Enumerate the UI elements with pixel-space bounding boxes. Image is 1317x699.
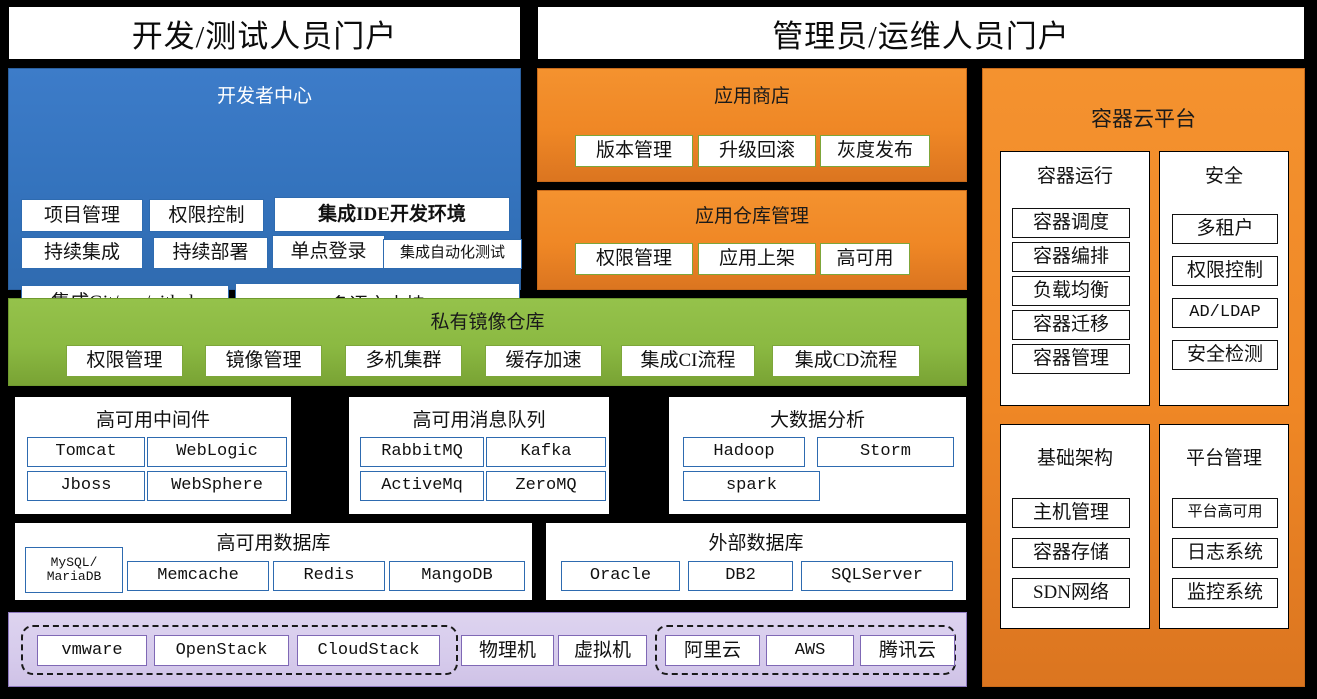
chip-label: spark bbox=[726, 477, 777, 495]
chip-oracle[interactable]: Oracle bbox=[561, 561, 680, 591]
chip-activemq[interactable]: ActiveMq bbox=[360, 471, 484, 501]
chip-label: 项目管理 bbox=[44, 206, 120, 226]
chip-registry-permission[interactable]: 权限管理 bbox=[66, 345, 183, 377]
chip-single-sign-on[interactable]: 单点登录 bbox=[272, 235, 385, 269]
chip-version-management[interactable]: 版本管理 bbox=[575, 135, 693, 167]
chip-mysql-mariadb[interactable]: MySQL/ MariaDB bbox=[25, 547, 123, 593]
chip-label: DB2 bbox=[725, 567, 756, 585]
middleware-group: 高可用中间件 Tomcat WebLogic Jboss WebSphere bbox=[14, 396, 292, 515]
chip-container-scheduling[interactable]: 容器调度 bbox=[1012, 208, 1130, 238]
chip-label: 镜像管理 bbox=[225, 351, 301, 371]
ha-database-group: 高可用数据库 MySQL/ MariaDB Memcache Redis Man… bbox=[14, 522, 533, 601]
chip-label: 持续集成 bbox=[44, 243, 120, 263]
chip-integrated-ide[interactable]: 集成IDE开发环境 bbox=[274, 197, 510, 232]
chip-cache-acceleration[interactable]: 缓存加速 bbox=[485, 345, 602, 377]
chip-label: 权限管理 bbox=[86, 351, 162, 371]
chip-virtual-machine[interactable]: 虚拟机 bbox=[558, 635, 647, 666]
chip-label: 灰度发布 bbox=[837, 141, 913, 161]
chip-label: WebSphere bbox=[171, 477, 263, 495]
chip-label: 阿里云 bbox=[684, 641, 741, 661]
chip-security-detection[interactable]: 安全检测 bbox=[1172, 340, 1278, 370]
chip-label: 集成CI流程 bbox=[640, 351, 735, 371]
chip-multi-node-cluster[interactable]: 多机集群 bbox=[345, 345, 462, 377]
chip-label: 集成CD流程 bbox=[795, 351, 897, 371]
chip-label: 监控系统 bbox=[1187, 583, 1263, 603]
app-repository-title: 应用仓库管理 bbox=[538, 201, 966, 228]
app-store-panel: 应用商店 版本管理 升级回滚 灰度发布 bbox=[537, 68, 967, 182]
private-registry-panel: 私有镜像仓库 权限管理 镜像管理 多机集群 缓存加速 集成CI流程 集成CD流程 bbox=[8, 298, 967, 386]
chip-high-availability[interactable]: 高可用 bbox=[820, 243, 910, 275]
middleware-title: 高可用中间件 bbox=[15, 405, 291, 432]
chip-physical-machine[interactable]: 物理机 bbox=[461, 635, 554, 666]
external-database-title: 外部数据库 bbox=[546, 528, 966, 555]
portal-header-dev-label: 开发/测试人员门户 bbox=[132, 11, 398, 56]
chip-log-system[interactable]: 日志系统 bbox=[1172, 538, 1278, 568]
platform-mgmt-title: 平台管理 bbox=[1160, 443, 1288, 470]
portal-header-admin-label: 管理员/运维人员门户 bbox=[772, 11, 1070, 56]
chip-ad-ldap[interactable]: AD/LDAP bbox=[1172, 298, 1278, 328]
chip-label: 多租户 bbox=[1196, 219, 1253, 239]
app-store-title: 应用商店 bbox=[538, 81, 966, 108]
chip-aws[interactable]: AWS bbox=[766, 635, 854, 666]
chip-label-line2: MariaDB bbox=[47, 570, 102, 584]
chip-rabbitmq[interactable]: RabbitMQ bbox=[360, 437, 484, 467]
chip-label: WebLogic bbox=[176, 443, 258, 461]
chip-label: AD/LDAP bbox=[1189, 304, 1260, 322]
chip-weblogic[interactable]: WebLogic bbox=[147, 437, 287, 467]
chip-label: Jboss bbox=[60, 477, 111, 495]
chip-mangodb[interactable]: MangoDB bbox=[389, 561, 525, 591]
chip-label: ActiveMq bbox=[381, 477, 463, 495]
chip-memcache[interactable]: Memcache bbox=[127, 561, 269, 591]
chip-tencent-cloud[interactable]: 腾讯云 bbox=[860, 635, 955, 666]
chip-jboss[interactable]: Jboss bbox=[27, 471, 145, 501]
chip-gray-release[interactable]: 灰度发布 bbox=[820, 135, 930, 167]
chip-label: 升级回滚 bbox=[719, 141, 795, 161]
chip-multi-tenant[interactable]: 多租户 bbox=[1172, 214, 1278, 244]
chip-continuous-integration[interactable]: 持续集成 bbox=[21, 237, 143, 269]
chip-vmware[interactable]: vmware bbox=[37, 635, 147, 666]
chip-app-publish[interactable]: 应用上架 bbox=[698, 243, 816, 275]
chip-label: 容器迁移 bbox=[1033, 315, 1109, 335]
chip-label: 高可用 bbox=[836, 249, 893, 269]
chip-host-management[interactable]: 主机管理 bbox=[1012, 498, 1130, 528]
chip-label: Redis bbox=[303, 567, 354, 585]
portal-header-admin: 管理员/运维人员门户 bbox=[537, 6, 1305, 60]
private-registry-title: 私有镜像仓库 bbox=[9, 307, 966, 334]
chip-label: 缓存加速 bbox=[505, 351, 581, 371]
chip-label: 单点登录 bbox=[290, 242, 366, 262]
chip-label: 权限管理 bbox=[596, 249, 672, 269]
chip-label: 容器管理 bbox=[1033, 349, 1109, 369]
infra-group: 基础架构 主机管理 容器存储 SDN网络 bbox=[1000, 424, 1150, 629]
bigdata-group: 大数据分析 Hadoop Storm spark bbox=[668, 396, 967, 515]
message-queue-title: 高可用消息队列 bbox=[349, 405, 609, 432]
chip-db2[interactable]: DB2 bbox=[688, 561, 793, 591]
bigdata-title: 大数据分析 bbox=[669, 405, 966, 432]
chip-storm[interactable]: Storm bbox=[817, 437, 954, 467]
container-runtime-title: 容器运行 bbox=[1001, 161, 1149, 188]
infrastructure-panel: vmware OpenStack CloudStack 物理机 虚拟机 阿里云 … bbox=[8, 612, 967, 687]
chip-label: AWS bbox=[795, 642, 826, 660]
external-database-group: 外部数据库 Oracle DB2 SQLServer bbox=[545, 522, 967, 601]
chip-label: CloudStack bbox=[317, 642, 419, 660]
chip-permission-control[interactable]: 权限控制 bbox=[149, 199, 264, 232]
chip-label: 安全检测 bbox=[1187, 345, 1263, 365]
app-repository-panel: 应用仓库管理 权限管理 应用上架 高可用 bbox=[537, 190, 967, 290]
chip-label: 权限控制 bbox=[168, 206, 244, 226]
chip-label: Kafka bbox=[520, 443, 571, 461]
chip-label: 容器存储 bbox=[1033, 543, 1109, 563]
security-title: 安全 bbox=[1160, 161, 1288, 188]
chip-label: SQLServer bbox=[831, 567, 923, 585]
chip-label: vmware bbox=[61, 642, 122, 660]
container-runtime-group: 容器运行 容器调度 容器编排 负载均衡 容器迁移 容器管理 bbox=[1000, 151, 1150, 406]
chip-websphere[interactable]: WebSphere bbox=[147, 471, 287, 501]
developer-center-panel: 开发者中心 项目管理 权限控制 集成IDE开发环境 持续集成 持续部署 单点登录… bbox=[8, 68, 521, 290]
chip-label: 平台高可用 bbox=[1187, 505, 1262, 521]
chip-label: 主机管理 bbox=[1033, 503, 1109, 523]
chip-label: Tomcat bbox=[55, 443, 116, 461]
developer-center-title: 开发者中心 bbox=[9, 81, 520, 108]
chip-container-management[interactable]: 容器管理 bbox=[1012, 344, 1130, 374]
chip-label: OpenStack bbox=[176, 642, 268, 660]
chip-kafka[interactable]: Kafka bbox=[486, 437, 606, 467]
chip-label: ZeroMQ bbox=[515, 477, 576, 495]
chip-monitoring-system[interactable]: 监控系统 bbox=[1172, 578, 1278, 608]
chip-automated-testing[interactable]: 集成自动化测试 bbox=[383, 239, 522, 269]
chip-zeromq[interactable]: ZeroMQ bbox=[486, 471, 606, 501]
chip-upgrade-rollback[interactable]: 升级回滚 bbox=[698, 135, 816, 167]
chip-label: MangoDB bbox=[421, 567, 492, 585]
chip-label: SDN网络 bbox=[1033, 583, 1109, 603]
chip-label: 腾讯云 bbox=[879, 641, 936, 661]
chip-label: 集成自动化测试 bbox=[400, 246, 505, 262]
chip-continuous-deployment[interactable]: 持续部署 bbox=[153, 237, 268, 269]
platform-mgmt-group: 平台管理 平台高可用 日志系统 监控系统 bbox=[1159, 424, 1289, 629]
chip-label: 多机集群 bbox=[365, 351, 441, 371]
chip-platform-ha[interactable]: 平台高可用 bbox=[1172, 498, 1278, 528]
chip-label: 权限控制 bbox=[1187, 261, 1263, 281]
chip-repo-permission[interactable]: 权限管理 bbox=[575, 243, 693, 275]
chip-cloudstack[interactable]: CloudStack bbox=[297, 635, 440, 666]
chip-label: 容器编排 bbox=[1033, 247, 1109, 267]
chip-label: 物理机 bbox=[479, 641, 536, 661]
chip-redis[interactable]: Redis bbox=[273, 561, 385, 591]
chip-ci-pipeline[interactable]: 集成CI流程 bbox=[621, 345, 755, 377]
chip-label: 日志系统 bbox=[1187, 543, 1263, 563]
chip-label: Oracle bbox=[590, 567, 651, 585]
chip-label: 版本管理 bbox=[596, 141, 672, 161]
chip-image-management[interactable]: 镜像管理 bbox=[205, 345, 322, 377]
chip-label: 负载均衡 bbox=[1033, 281, 1109, 301]
chip-sqlserver[interactable]: SQLServer bbox=[801, 561, 953, 591]
chip-label: RabbitMQ bbox=[381, 443, 463, 461]
chip-openstack[interactable]: OpenStack bbox=[154, 635, 289, 666]
chip-container-orchestration[interactable]: 容器编排 bbox=[1012, 242, 1130, 272]
chip-spark[interactable]: spark bbox=[683, 471, 820, 501]
chip-label: Storm bbox=[860, 443, 911, 461]
container-cloud-panel: 容器云平台 容器运行 容器调度 容器编排 负载均衡 容器迁移 容器管理 安全 bbox=[982, 68, 1305, 687]
chip-tomcat[interactable]: Tomcat bbox=[27, 437, 145, 467]
chip-load-balancing[interactable]: 负载均衡 bbox=[1012, 276, 1130, 306]
chip-aliyun[interactable]: 阿里云 bbox=[665, 635, 760, 666]
chip-label: 应用上架 bbox=[719, 249, 795, 269]
security-group: 安全 多租户 权限控制 AD/LDAP 安全检测 bbox=[1159, 151, 1289, 406]
architecture-diagram: 开发/测试人员门户 管理员/运维人员门户 开发者中心 项目管理 权限控制 集成I… bbox=[0, 0, 1317, 699]
chip-hadoop[interactable]: Hadoop bbox=[683, 437, 805, 467]
chip-label: Hadoop bbox=[713, 443, 774, 461]
chip-label: 持续部署 bbox=[172, 243, 248, 263]
chip-cd-pipeline[interactable]: 集成CD流程 bbox=[772, 345, 920, 377]
chip-sdn-network[interactable]: SDN网络 bbox=[1012, 578, 1130, 608]
infra-title: 基础架构 bbox=[1001, 443, 1149, 470]
chip-container-storage[interactable]: 容器存储 bbox=[1012, 538, 1130, 568]
chip-label: 虚拟机 bbox=[574, 641, 631, 661]
portal-header-dev: 开发/测试人员门户 bbox=[8, 6, 521, 60]
container-cloud-title: 容器云平台 bbox=[983, 103, 1304, 133]
message-queue-group: 高可用消息队列 RabbitMQ Kafka ActiveMq ZeroMQ bbox=[348, 396, 610, 515]
chip-label-line1: MySQL/ bbox=[51, 556, 98, 570]
chip-label: 容器调度 bbox=[1033, 213, 1109, 233]
chip-security-permission[interactable]: 权限控制 bbox=[1172, 256, 1278, 286]
chip-project-management[interactable]: 项目管理 bbox=[21, 199, 143, 232]
chip-label: Memcache bbox=[157, 567, 239, 585]
chip-container-migration[interactable]: 容器迁移 bbox=[1012, 310, 1130, 340]
chip-label: 集成IDE开发环境 bbox=[318, 205, 466, 225]
